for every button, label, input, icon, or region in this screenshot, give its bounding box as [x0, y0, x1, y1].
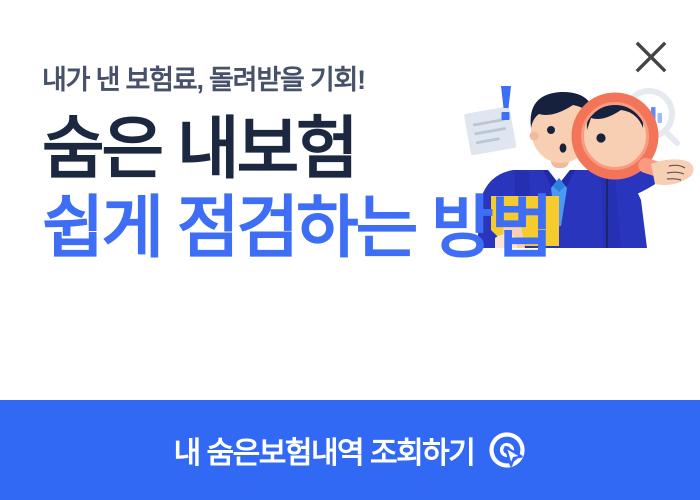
close-x-icon [634, 40, 668, 74]
hand-shape [651, 159, 694, 185]
cta-button[interactable]: 내 숨은보험내역 조회하기 [0, 400, 700, 500]
cta-label: 내 숨은보험내역 조회하기 [174, 428, 475, 472]
click-target-cursor-icon [488, 431, 526, 469]
copy-block: 내가 낸 보험료, 돌려받을 기회! 숨은 내보험 쉽게 점검하는 방법 [42, 66, 550, 264]
insurance-promo-banner: 내가 낸 보험료, 돌려받을 기회! 숨은 내보험 쉽게 점검하는 방법 내 숨… [0, 0, 700, 500]
eyebrow-text: 내가 낸 보험료, 돌려받을 기회! [42, 66, 550, 96]
headline-line-1: 숨은 내보험 [42, 114, 550, 185]
headline-line-2: 쉽게 점검하는 방법 [42, 193, 550, 264]
close-button[interactable] [630, 36, 672, 78]
